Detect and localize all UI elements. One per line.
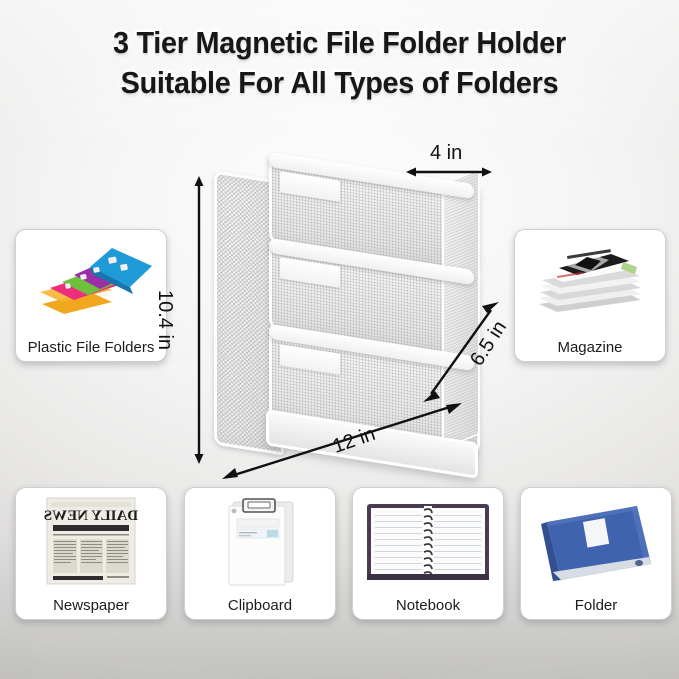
notebook-label: Notebook (353, 597, 503, 614)
dimension-arrow-depth (423, 302, 499, 402)
clipboard-label: Clipboard (185, 597, 335, 614)
dimension-arrow-length (222, 398, 462, 484)
clipboard-image (185, 494, 335, 589)
magazine-image (515, 236, 665, 331)
newspaper-masthead-text: DAILY NEWS (44, 508, 138, 524)
dimension-label-height: 10.4 in (153, 290, 176, 350)
magazine-label: Magazine (515, 339, 665, 356)
title-line-2: Suitable For All Types of Folders (24, 63, 655, 103)
feature-card-plastic-file-folders[interactable]: Plastic File Folders (15, 229, 167, 362)
notebook-image (353, 494, 503, 589)
title-line-1: 3 Tier Magnetic File Folder Holder (24, 23, 655, 63)
dimension-label-width-top: 4 in (430, 142, 462, 165)
plastic-file-folders-image (16, 236, 166, 331)
page-title: 3 Tier Magnetic File Folder Holder Suita… (24, 23, 655, 104)
folder-image (521, 494, 671, 589)
newspaper-label: Newspaper (16, 597, 166, 614)
feature-card-clipboard[interactable]: Clipboard (184, 487, 336, 620)
feature-card-magazine[interactable]: Magazine (514, 229, 666, 362)
feature-card-newspaper[interactable]: DAILY NEWS (15, 487, 167, 620)
feature-card-folder[interactable]: Folder (520, 487, 672, 620)
dimension-arrow-width-top (406, 166, 492, 178)
newspaper-image: DAILY NEWS (16, 494, 166, 589)
plastic-file-folders-label: Plastic File Folders (16, 339, 166, 356)
infographic-canvas: 3 Tier Magnetic File Folder Holder Suita… (0, 0, 679, 679)
folder-label: Folder (521, 597, 671, 614)
dimension-arrow-height (193, 176, 205, 464)
feature-card-notebook[interactable]: Notebook (352, 487, 504, 620)
